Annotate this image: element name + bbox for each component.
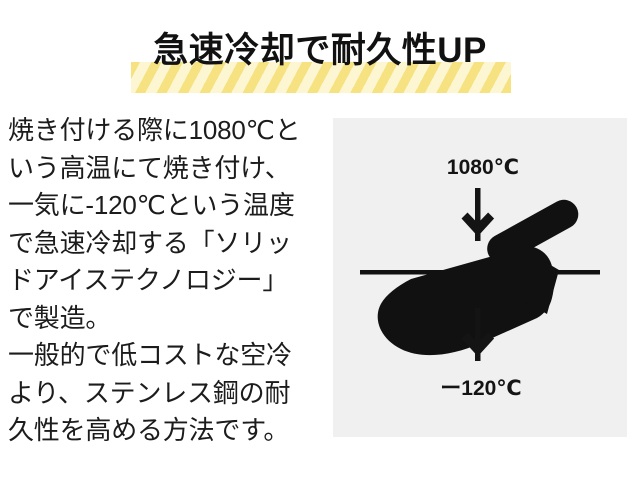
cold-temperature-label: ー120℃ [333,372,627,402]
body-line: 久性を高める方法です。 [8,412,326,450]
body-line: 一気に-120℃という温度 [8,187,326,225]
body-line: 一般的で低コストな空冷 [8,337,326,375]
body-line: より、ステンレス鋼の耐 [8,375,326,413]
body-line: 焼き付ける際に1080℃と [8,112,326,150]
horizontal-rule-icon [360,270,600,275]
page-header: 急速冷却で耐久性UP [0,26,640,100]
body-line: ドアイステクノロジー」 [8,262,326,300]
body-copy: 焼き付ける際に1080℃と いう高温にて焼き付け、 一気に-120℃という温度 … [8,112,326,450]
body-line: で急速冷却する「ソリッ [8,225,326,263]
diagram-panel: 1080℃ ー120℃ [333,118,627,437]
body-line: で製造。 [8,300,326,338]
hot-temperature-label: 1080℃ [333,155,627,180]
knife-silhouette-icon [378,195,584,356]
arrow-down-icon-hot [462,188,495,241]
page-title: 急速冷却で耐久性UP [0,26,640,76]
body-line: いう高温にて焼き付け、 [8,150,326,188]
